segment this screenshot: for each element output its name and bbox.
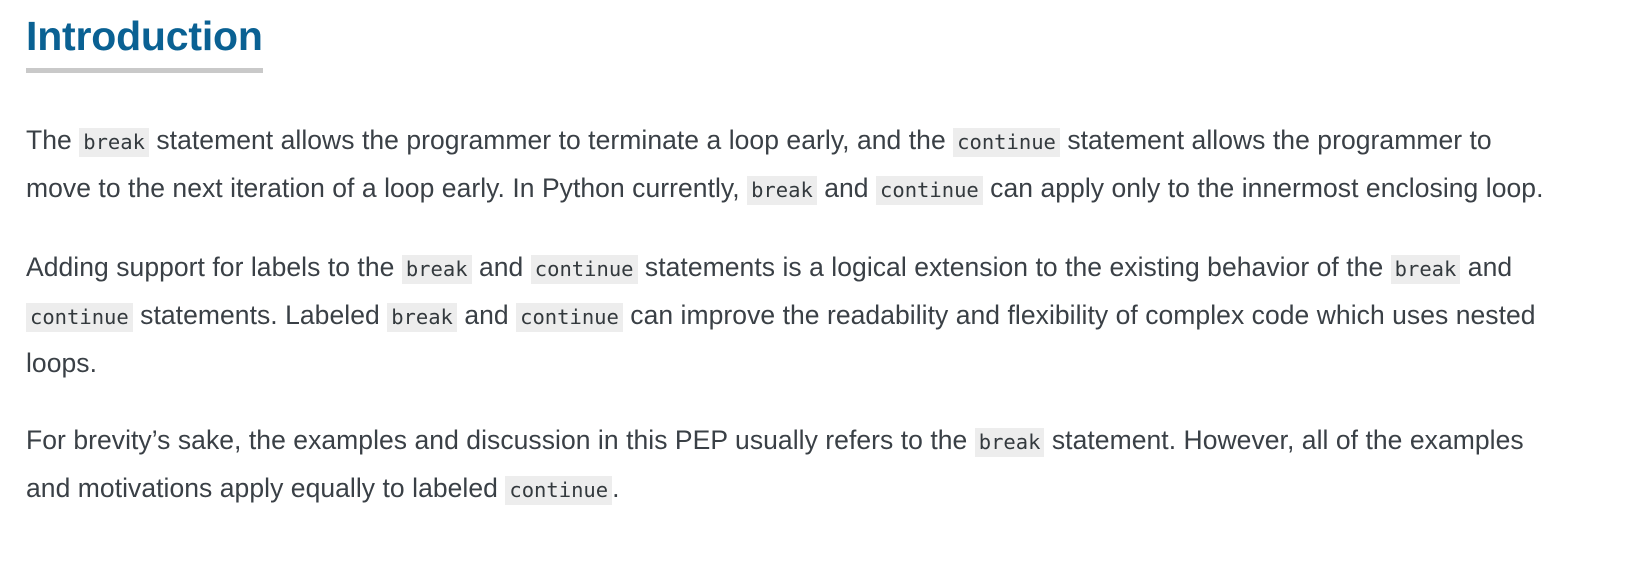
inline-code-token: continue <box>876 176 983 205</box>
section-heading-row: Introduction <box>26 14 1609 73</box>
inline-code-token: continue <box>26 303 133 332</box>
paragraph-intro-3: For brevity’s sake, the examples and dis… <box>26 417 1556 513</box>
inline-code-token: continue <box>516 303 623 332</box>
inline-code-token: continue <box>953 128 1060 157</box>
paragraph-intro-1: The break statement allows the programme… <box>26 117 1556 213</box>
inline-code-token: break <box>1391 255 1461 284</box>
inline-code-token: break <box>975 428 1045 457</box>
inline-code-token: break <box>402 255 472 284</box>
document-body: The break statement allows the programme… <box>26 117 1609 513</box>
document-page: Introduction The break statement allows … <box>0 0 1635 513</box>
inline-code-token: continue <box>531 255 638 284</box>
inline-code-token: break <box>747 176 817 205</box>
paragraph-intro-2: Adding support for labels to the break a… <box>26 244 1556 386</box>
page-title[interactable]: Introduction <box>26 14 263 73</box>
inline-code-token: continue <box>505 476 612 505</box>
inline-code-token: break <box>387 303 457 332</box>
inline-code-token: break <box>79 128 149 157</box>
